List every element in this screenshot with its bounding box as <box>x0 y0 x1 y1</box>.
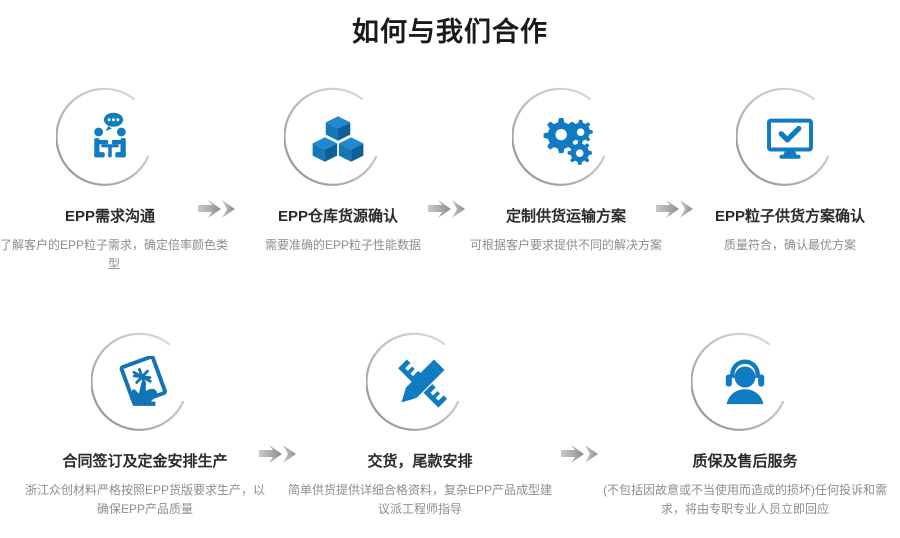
pencil-ruler-icon <box>392 356 448 412</box>
process-step-7[interactable]: 质保及售后服务 (不包括因故意或不当使用而造成的损坏)任何投诉和需求，将由专职专… <box>595 330 895 519</box>
step-4-title: EPP粒子供货方案确认 <box>680 207 900 227</box>
boxes-stack-icon <box>310 111 366 167</box>
step-5-description: 浙江众创材料严格按照EPP货版要求生产，以确保EPP产品质量 <box>20 481 270 519</box>
step-6-icon-wrap <box>366 330 474 438</box>
step-7-description: (不包括因故意或不当使用而造成的损坏)任何投诉和需求，将由专职专业人员立即回应 <box>595 481 895 519</box>
page-title: 如何与我们合作 <box>0 15 900 49</box>
process-step-6[interactable]: 交货，尾款安排 简单供货提供详细合格资料，复杂EPP产品成型建议派工程师指导 <box>288 330 552 519</box>
step-7-title: 质保及售后服务 <box>595 452 895 472</box>
step-2-description: 需要准确的EPP粒子性能数据 <box>228 236 458 255</box>
arrow-step-5-to-6 <box>258 443 298 465</box>
process-flow-page: 如何与我们合作 <box>0 0 900 538</box>
arrow-step-3-to-4 <box>655 198 695 220</box>
step-1-title: EPP需求沟通 <box>0 207 220 227</box>
arrow-step-2-to-3 <box>427 198 467 220</box>
step-4-description: 质量符合，确认最优方案 <box>680 236 900 255</box>
step-6-description: 简单供货提供详细合格资料，复杂EPP产品成型建议派工程师指导 <box>288 481 552 519</box>
arrow-step-1-to-2 <box>197 198 237 220</box>
arrow-step-6-to-7 <box>560 443 600 465</box>
monitor-check-icon <box>762 111 818 167</box>
people-discussion-icon <box>82 111 138 167</box>
step-4-icon-wrap <box>736 85 844 193</box>
hand-sign-tablet-icon <box>117 356 173 412</box>
process-step-1[interactable]: EPP需求沟通 了解客户的EPP粒子需求，确定倍率颜色类型 <box>0 85 220 274</box>
process-step-3[interactable]: 定制供货运输方案 可根据客户要求提供不同的解决方案 <box>456 85 676 255</box>
process-step-2[interactable]: EPP仓库货源确认 需要准确的EPP粒子性能数据 <box>228 85 448 255</box>
gears-icon <box>538 111 594 167</box>
step-1-icon-wrap <box>56 85 164 193</box>
step-3-icon-wrap <box>512 85 620 193</box>
step-2-title: EPP仓库货源确认 <box>228 207 448 227</box>
step-3-description: 可根据客户要求提供不同的解决方案 <box>466 236 666 255</box>
step-5-title: 合同签订及定金安排生产 <box>20 452 270 472</box>
process-step-5[interactable]: 合同签订及定金安排生产 浙江众创材料严格按照EPP货版要求生产，以确保EPP产品… <box>20 330 270 519</box>
process-step-4[interactable]: EPP粒子供货方案确认 质量符合，确认最优方案 <box>680 85 900 255</box>
headset-support-icon <box>717 356 773 412</box>
step-2-icon-wrap <box>284 85 392 193</box>
step-5-icon-wrap <box>91 330 199 438</box>
step-6-title: 交货，尾款安排 <box>288 452 552 472</box>
step-7-icon-wrap <box>691 330 799 438</box>
step-3-title: 定制供货运输方案 <box>456 207 676 227</box>
step-1-description: 了解客户的EPP粒子需求，确定倍率颜色类型 <box>0 236 228 274</box>
